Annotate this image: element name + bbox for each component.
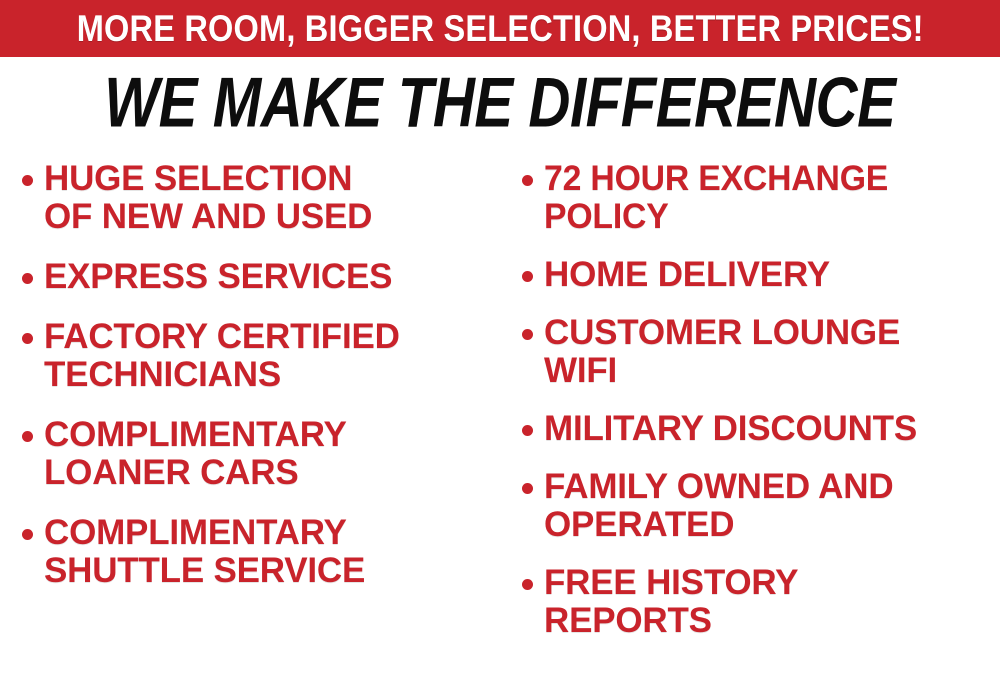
- list-item-label: COMPLIMENTARY SHUTTLE SERVICE: [44, 514, 365, 590]
- list-item-label: COMPLIMENTARY LOANER CARS: [44, 416, 347, 492]
- list-item: 72 HOUR EXCHANGE POLICY: [522, 160, 998, 236]
- bullet-dot-icon: [522, 483, 533, 494]
- list-item-label: FAMILY OWNED AND OPERATED: [544, 468, 893, 544]
- page-title: WE MAKE THE DIFFERENCE: [104, 66, 895, 139]
- list-item: MILITARY DISCOUNTS: [522, 410, 998, 448]
- list-item: FREE HISTORY REPORTS: [522, 564, 998, 640]
- list-item: EXPRESS SERVICES: [22, 258, 494, 296]
- bullet-dot-icon: [22, 175, 33, 186]
- features-columns: HUGE SELECTION OF NEW AND USED EXPRESS S…: [0, 160, 1000, 694]
- bullet-dot-icon: [522, 175, 533, 186]
- bullet-dot-icon: [522, 271, 533, 282]
- list-item: COMPLIMENTARY LOANER CARS: [22, 416, 494, 492]
- list-item-label: HOME DELIVERY: [544, 256, 830, 294]
- list-item-label: 72 HOUR EXCHANGE POLICY: [544, 160, 888, 236]
- top-red-banner: MORE ROOM, BIGGER SELECTION, BETTER PRIC…: [0, 0, 1000, 57]
- bullet-dot-icon: [22, 333, 33, 344]
- features-column-left: HUGE SELECTION OF NEW AND USED EXPRESS S…: [0, 160, 500, 612]
- list-item: FAMILY OWNED AND OPERATED: [522, 468, 998, 544]
- bullet-dot-icon: [22, 273, 33, 284]
- list-item-label: MILITARY DISCOUNTS: [544, 410, 917, 448]
- list-item-label: FACTORY CERTIFIED TECHNICIANS: [44, 318, 400, 394]
- list-item-label: HUGE SELECTION OF NEW AND USED: [44, 160, 372, 236]
- features-column-right: 72 HOUR EXCHANGE POLICY HOME DELIVERY CU…: [500, 160, 1000, 660]
- bullet-dot-icon: [522, 425, 533, 436]
- list-item: HOME DELIVERY: [522, 256, 998, 294]
- list-item-label: CUSTOMER LOUNGE WIFI: [544, 314, 900, 390]
- list-item: COMPLIMENTARY SHUTTLE SERVICE: [22, 514, 494, 590]
- list-item-label: EXPRESS SERVICES: [44, 258, 392, 296]
- bullet-dot-icon: [522, 329, 533, 340]
- list-item: FACTORY CERTIFIED TECHNICIANS: [22, 318, 494, 394]
- bullet-dot-icon: [22, 431, 33, 442]
- main-headline-area: WE MAKE THE DIFFERENCE: [0, 62, 1000, 144]
- banner-headline-text: MORE ROOM, BIGGER SELECTION, BETTER PRIC…: [77, 10, 924, 47]
- list-item: HUGE SELECTION OF NEW AND USED: [22, 160, 494, 236]
- bullet-dot-icon: [22, 529, 33, 540]
- list-item-label: FREE HISTORY REPORTS: [544, 564, 798, 640]
- bullet-dot-icon: [522, 579, 533, 590]
- list-item: CUSTOMER LOUNGE WIFI: [522, 314, 998, 390]
- advertisement-banner: MORE ROOM, BIGGER SELECTION, BETTER PRIC…: [0, 0, 1000, 694]
